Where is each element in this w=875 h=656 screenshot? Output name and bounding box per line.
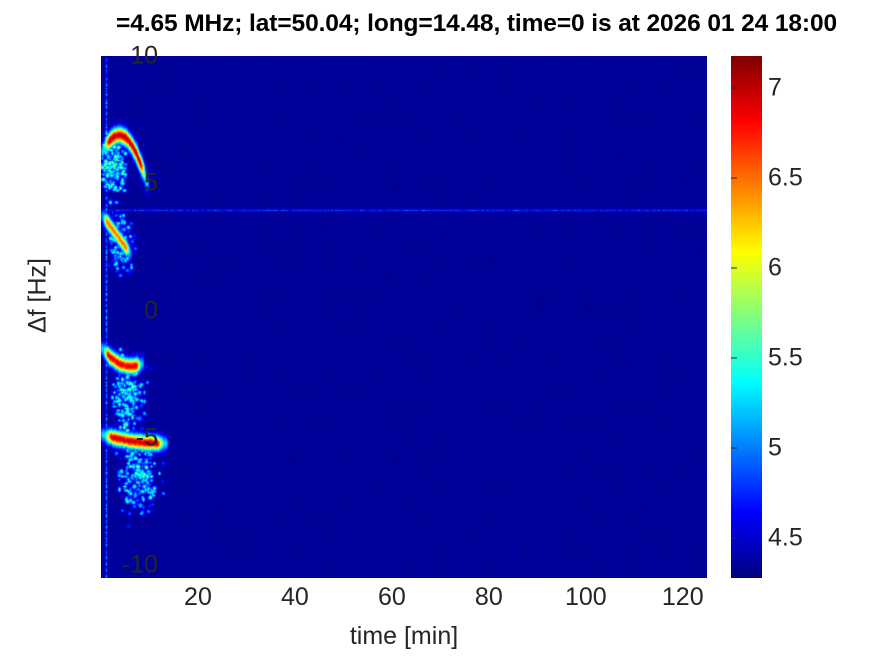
colorbar-tick-mark-4 [731, 178, 737, 179]
colorbar-tick-mark-0 [731, 538, 737, 539]
y-axis-tick-4: -10 [46, 553, 166, 578]
colorbar-tick-1: 5 [768, 436, 782, 461]
y-axis-tick-2: 0 [46, 298, 166, 323]
figure-title: =4.65 MHz; lat=50.04; long=14.48, time=0… [0, 8, 875, 40]
colorbar-tick-mark-3 [731, 268, 737, 269]
figure-container: =4.65 MHz; lat=50.04; long=14.48, time=0… [0, 0, 875, 656]
colorbar-tick-mark-2 [731, 358, 737, 359]
colorbar-gradient [731, 56, 762, 578]
y-axis-tick-0: 10 [46, 44, 166, 69]
y-axis-tick-3: -5 [46, 425, 166, 450]
spectrogram-plot-area[interactable] [101, 56, 707, 578]
spectrogram-image [101, 56, 707, 578]
colorbar-tick-4: 6.5 [768, 166, 803, 191]
x-axis-label: time [min] [101, 622, 707, 651]
colorbar-tick-mark-5 [731, 88, 737, 89]
y-axis-tick-1: 5 [46, 171, 166, 196]
colorbar-tick-3: 6 [768, 256, 782, 281]
colorbar-tick-5: 7 [768, 76, 782, 101]
x-axis-tick-5: 120 [613, 585, 753, 610]
colorbar-tick-2: 5.5 [768, 346, 803, 371]
colorbar-tick-mark-1 [731, 448, 737, 449]
colorbar[interactable] [731, 56, 762, 578]
colorbar-tick-0: 4.5 [768, 526, 803, 551]
y-axis-label: Δf [Hz] [24, 16, 53, 576]
